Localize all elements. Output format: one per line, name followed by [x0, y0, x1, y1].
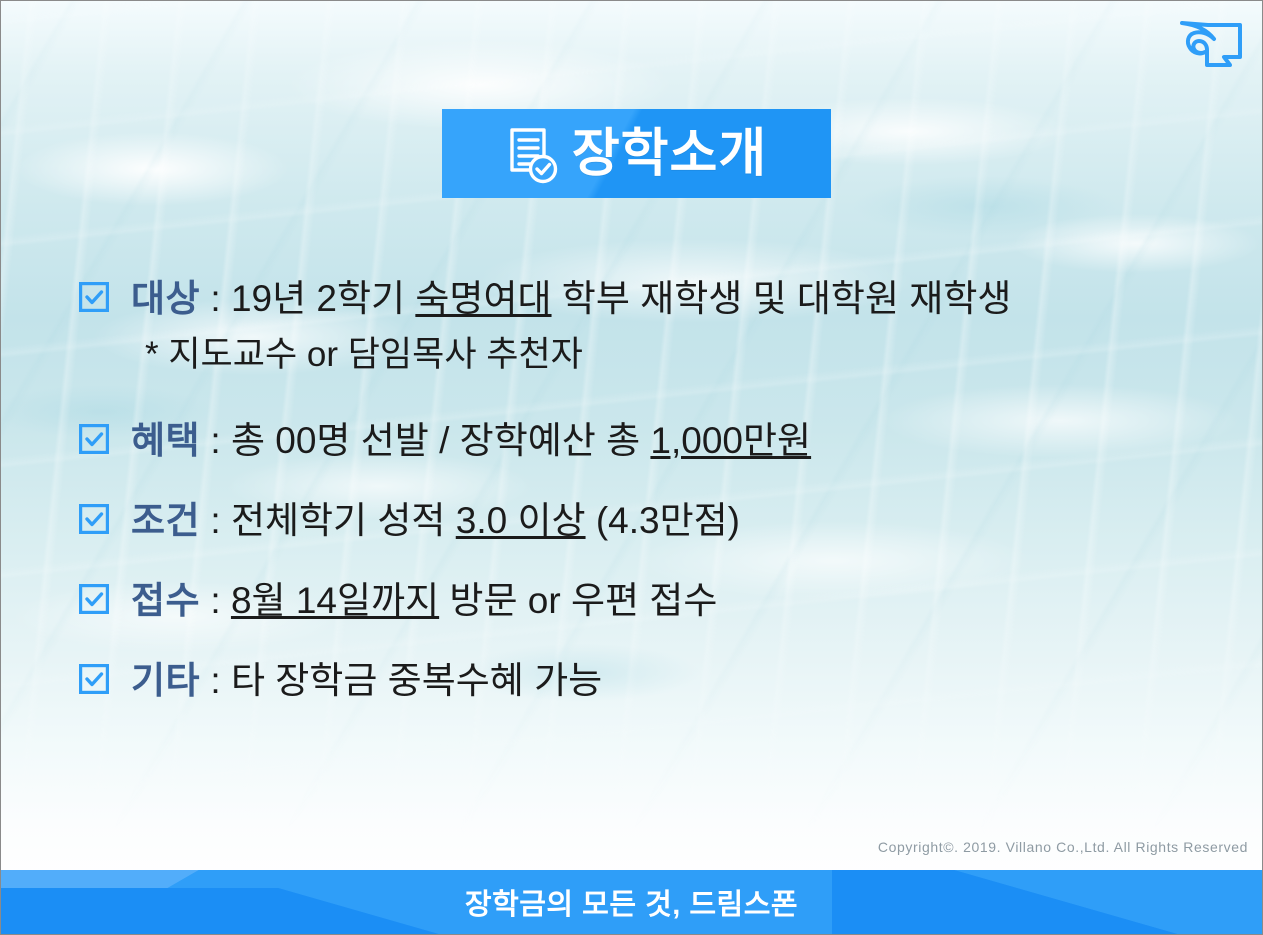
list-item-subline: * 지도교수 or 담임목사 추천자 [131, 329, 1222, 381]
list-item-colon: : [200, 500, 231, 541]
checkbox-checked-icon [79, 424, 109, 454]
list-item-colon: : [200, 580, 231, 621]
list-item-text-after: (4.3만점) [586, 500, 740, 541]
checkbox-checked-icon [79, 504, 109, 534]
list-item-text: 대상 : 19년 2학기 숙명여대 학부 재학생 및 대학원 재학생 [131, 273, 1222, 325]
list-item-text-before: 총 00명 선발 / 장학예산 총 [231, 420, 650, 461]
list-item-colon: : [200, 420, 231, 461]
list-item-label: 혜택 [131, 420, 200, 461]
list-item-text-before: 19년 2학기 [231, 278, 415, 319]
list-item-label: 기타 [131, 660, 200, 701]
list-item: 조건 : 전체학기 성적 3.0 이상 (4.3만점) [79, 495, 1222, 547]
list-item-text: 혜택 : 총 00명 선발 / 장학예산 총 1,000만원 [131, 415, 1222, 467]
list-item-emphasis: 숙명여대 [415, 278, 551, 319]
checkbox-checked-icon [79, 664, 109, 694]
checkbox-checked-icon [79, 282, 109, 312]
list-item-text: 접수 : 8월 14일까지 방문 or 우편 접수 [131, 575, 1222, 627]
list-item: 대상 : 19년 2학기 숙명여대 학부 재학생 및 대학원 재학생 * 지도교… [79, 273, 1222, 381]
list-item-colon: : [200, 278, 231, 319]
list-item-text: 조건 : 전체학기 성적 3.0 이상 (4.3만점) [131, 495, 1222, 547]
content-list: 대상 : 19년 2학기 숙명여대 학부 재학생 및 대학원 재학생 * 지도교… [79, 273, 1222, 735]
dreamspon-bird-logo [1178, 9, 1250, 75]
list-item-emphasis: 8월 14일까지 [231, 580, 439, 621]
document-check-icon [506, 126, 558, 184]
checkbox-checked-icon [79, 584, 109, 614]
list-item-colon: : [200, 660, 231, 701]
list-item: 접수 : 8월 14일까지 방문 or 우편 접수 [79, 575, 1222, 627]
list-item-text-before: 전체학기 성적 [231, 500, 456, 541]
list-item-label: 접수 [131, 580, 200, 621]
list-item-label: 조건 [131, 500, 200, 541]
footer-tagline: 장학금의 모든 것, 드림스폰 [1, 870, 1262, 934]
list-item: 혜택 : 총 00명 선발 / 장학예산 총 1,000만원 [79, 415, 1222, 467]
list-item: 기타 : 타 장학금 중복수혜 가능 [79, 655, 1222, 707]
list-item-text-after: 학부 재학생 및 대학원 재학생 [552, 278, 1012, 319]
footer-bar: 장학금의 모든 것, 드림스폰 [1, 870, 1262, 934]
list-item-label: 대상 [131, 278, 200, 319]
list-item-emphasis: 1,000만원 [650, 420, 811, 461]
copyright-text: Copyright©. 2019. Villano Co.,Ltd. All R… [878, 839, 1248, 855]
title-banner: 장학소개 [442, 109, 831, 198]
list-item-text-before: 타 장학금 중복수혜 가능 [231, 660, 602, 701]
list-item-emphasis: 3.0 이상 [456, 500, 586, 541]
list-item-text-after: 방문 or 우편 접수 [439, 580, 717, 621]
list-item-text: 기타 : 타 장학금 중복수혜 가능 [131, 655, 1222, 707]
scholarship-intro-slide: 장학소개 대상 : 19년 2학기 숙명여대 학부 재학생 및 대학원 재학생 … [0, 0, 1263, 935]
page-title: 장학소개 [572, 128, 767, 180]
